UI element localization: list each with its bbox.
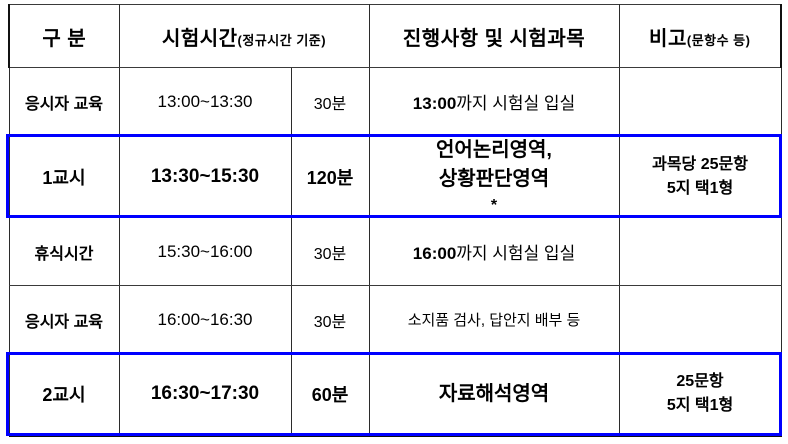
table-row: 1교시 13:30~15:30 120분 언어논리영역, 상황판단영역* 과목당…: [9, 136, 781, 218]
exam-schedule-table: 구 분 시험시간(정규시간 기준) 진행사항 및 시험과목 비고(문항수 등) …: [8, 4, 782, 437]
exam-schedule-sheet: 구 분 시험시간(정규시간 기준) 진행사항 및 시험과목 비고(문항수 등) …: [0, 0, 788, 444]
cell-division: 응시자 교육: [9, 286, 119, 354]
table-row: 2교시 16:30~17:30 60분 자료해석영역 25문항 5지 택1형: [9, 354, 781, 436]
cell-content-rest: 까지 시험실 입실: [456, 94, 575, 113]
header-division-label: 구 분: [42, 28, 86, 50]
cell-duration: 30분: [291, 68, 369, 136]
table-row: 응시자 교육 16:00~16:30 30분 소지품 검사, 답안지 배부 등: [9, 286, 781, 354]
cell-remark: [619, 286, 781, 354]
cell-content: 언어논리영역, 상황판단영역*: [369, 136, 619, 218]
header-division: 구 분: [9, 5, 119, 68]
cell-remark-line2: 5지 택1형: [622, 177, 779, 201]
cell-remark-line1: 과목당 25문항: [622, 153, 779, 177]
cell-content: 소지품 검사, 답안지 배부 등: [369, 286, 619, 354]
footnote-asterisk: *: [372, 194, 617, 217]
cell-time: 16:30~17:30: [119, 354, 291, 436]
cell-time: 13:30~15:30: [119, 136, 291, 218]
cell-content-line2-wrap: 상황판단영역*: [372, 165, 617, 217]
header-remark-sublabel: (문항수 등): [687, 33, 751, 48]
table-row: 응시자 교육 13:00~13:30 30분 13:00까지 시험실 입실: [9, 68, 781, 136]
cell-remark: [619, 218, 781, 286]
table-body: 응시자 교육 13:00~13:30 30분 13:00까지 시험실 입실 1교…: [9, 68, 781, 436]
cell-content-rest: 까지 시험실 입실: [456, 244, 575, 263]
header-remark-label: 비고: [649, 28, 687, 50]
cell-remark: 25문항 5지 택1형: [619, 354, 781, 436]
cell-content-line2: 상황판단영역: [372, 165, 617, 194]
table-row: 휴식시간 15:30~16:00 30분 16:00까지 시험실 입실: [9, 218, 781, 286]
header-content-label: 진행사항 및 시험과목: [403, 28, 585, 50]
cell-division: 2교시: [9, 354, 119, 436]
cell-duration: 60분: [291, 354, 369, 436]
header-exam-time-label: 시험시간: [162, 28, 238, 50]
cell-duration: 30분: [291, 218, 369, 286]
cell-remark-line1: 25문항: [622, 370, 779, 394]
cell-time: 13:00~13:30: [119, 68, 291, 136]
header-content: 진행사항 및 시험과목: [369, 5, 619, 68]
cell-content: 자료해석영역: [369, 354, 619, 436]
cell-content: 16:00까지 시험실 입실: [369, 218, 619, 286]
cell-time: 15:30~16:00: [119, 218, 291, 286]
cell-division: 응시자 교육: [9, 68, 119, 136]
cell-content: 13:00까지 시험실 입실: [369, 68, 619, 136]
cell-division: 휴식시간: [9, 218, 119, 286]
cell-duration: 30분: [291, 286, 369, 354]
cell-division: 1교시: [9, 136, 119, 218]
cell-remark-line2: 5지 택1형: [622, 394, 779, 418]
header-exam-time: 시험시간(정규시간 기준): [119, 5, 369, 68]
header-remark: 비고(문항수 등): [619, 5, 781, 68]
cell-time: 16:00~16:30: [119, 286, 291, 354]
cell-duration: 120분: [291, 136, 369, 218]
cell-remark: 과목당 25문항 5지 택1형: [619, 136, 781, 218]
table-header: 구 분 시험시간(정규시간 기준) 진행사항 및 시험과목 비고(문항수 등): [9, 5, 781, 68]
cell-content-bold: 13:00: [413, 94, 456, 113]
header-row: 구 분 시험시간(정규시간 기준) 진행사항 및 시험과목 비고(문항수 등): [9, 5, 781, 68]
cell-remark: [619, 68, 781, 136]
cell-content-bold: 16:00: [413, 244, 456, 263]
cell-content-line1: 언어논리영역,: [372, 136, 617, 165]
header-exam-time-sublabel: (정규시간 기준): [238, 33, 327, 48]
